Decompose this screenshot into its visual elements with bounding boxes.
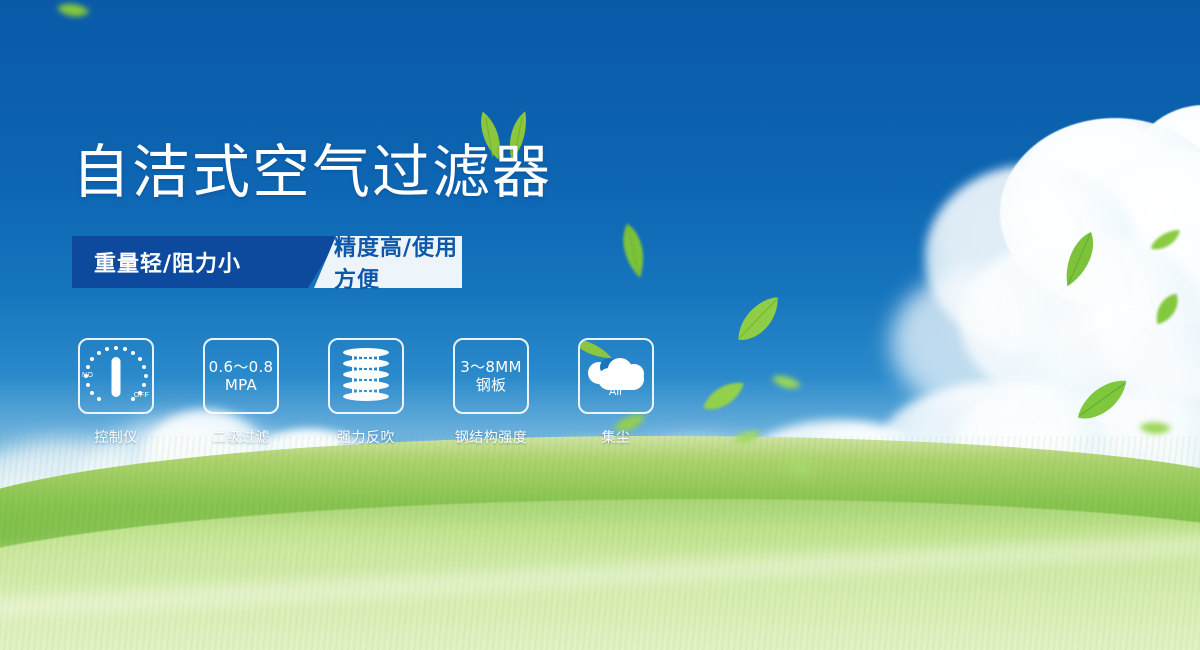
coil-ring — [343, 359, 389, 368]
dial-no-label: NO — [82, 372, 93, 379]
slogan-right-text: 精度高/使用方便 — [334, 236, 462, 288]
feature-box: Air — [578, 338, 654, 414]
feature-label: 二级过滤 — [203, 427, 279, 447]
coil-ring — [343, 348, 389, 357]
feature-label: 集尘 — [578, 427, 654, 447]
air-cloud-icon: Air — [588, 356, 644, 396]
feature-item-steel[interactable]: 3～8MM 钢板 钢结构强度 — [453, 338, 529, 447]
pressure-text: 0.6～0.8 MPA — [209, 358, 274, 395]
control-dial-icon: NO OFF — [80, 340, 152, 412]
feature-label: 强力反吹 — [328, 427, 404, 447]
feature-item-blowback[interactable]: 强力反吹 — [328, 338, 404, 447]
dial-off-label: OFF — [134, 392, 149, 399]
feature-item-pressure[interactable]: 0.6～0.8 MPA 二级过滤 — [203, 338, 279, 447]
steel-thickness: 3～8MM — [460, 358, 521, 376]
slogan-bar: 重量轻/阻力小 精度高/使用方便 — [72, 236, 462, 288]
feature-label: 控制仪 — [78, 427, 154, 447]
coil-ring — [343, 370, 389, 379]
feature-list: NO OFF 控制仪 0.6～0.8 MPA 二级过滤 — [78, 338, 654, 447]
feature-box: 0.6～0.8 MPA — [203, 338, 279, 414]
banner-content: 自洁式空气过滤器 重量轻/阻力小 精度高/使用方便 — [0, 0, 1200, 650]
coil-ring — [343, 392, 389, 401]
dial-pointer — [112, 357, 121, 397]
feature-label: 钢结构强度 — [453, 427, 529, 447]
page-title: 自洁式空气过滤器 — [72, 143, 552, 201]
coil-ring — [343, 381, 389, 390]
filter-coil-icon — [343, 348, 389, 404]
steel-material: 钢板 — [460, 376, 521, 394]
feature-item-dust[interactable]: Air 集尘 — [578, 338, 654, 447]
banner-stage: 自洁式空气过滤器 重量轻/阻力小 精度高/使用方便 — [0, 0, 1200, 650]
feature-item-control[interactable]: NO OFF 控制仪 — [78, 338, 154, 447]
steel-text: 3～8MM 钢板 — [460, 358, 521, 395]
feature-box: 3～8MM 钢板 — [453, 338, 529, 414]
pressure-value: 0.6～0.8 — [209, 358, 274, 376]
feature-box: NO OFF — [78, 338, 154, 414]
air-label: Air — [588, 386, 644, 398]
pressure-unit: MPA — [209, 376, 274, 394]
feature-box — [328, 338, 404, 414]
slogan-left-text: 重量轻/阻力小 — [94, 236, 241, 288]
